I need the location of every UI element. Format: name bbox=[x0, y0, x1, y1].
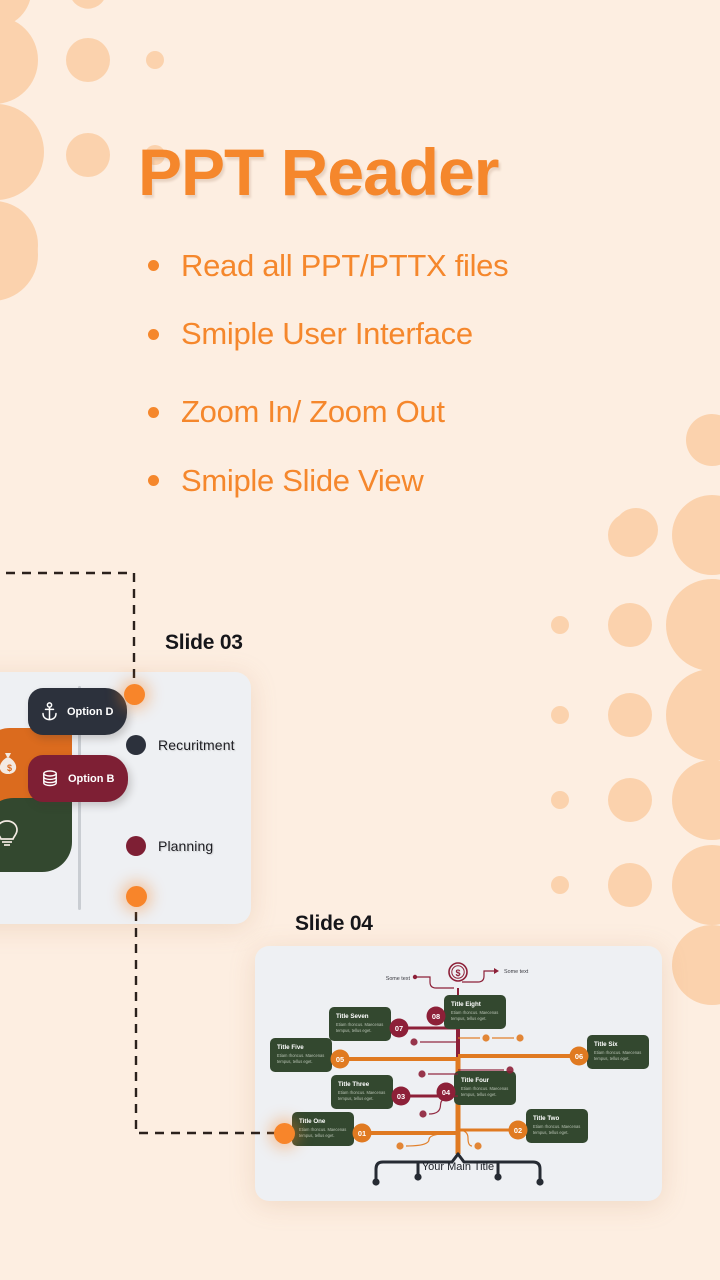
tree-branch-title: Title Three bbox=[338, 1081, 370, 1088]
svg-text:$: $ bbox=[7, 763, 12, 773]
chart-icon bbox=[410, 1038, 417, 1045]
tree-branch-body: tempus, tellus eget. bbox=[299, 1133, 335, 1138]
tree-branch-number: 05 bbox=[336, 1055, 344, 1064]
tree-branch-body: Etiam rhoncus. Maecenas bbox=[336, 1022, 383, 1027]
list-item: Smiple User Interface bbox=[148, 295, 668, 373]
tree-branch-number: 02 bbox=[514, 1126, 522, 1135]
tree-branch-number: 04 bbox=[442, 1088, 451, 1097]
tree-branch-body: Etiam rhoncus. Maecenas bbox=[533, 1124, 580, 1129]
legend-label: Recuritment bbox=[158, 737, 235, 753]
tree-branch-body: Etiam rhoncus. Maecenas bbox=[594, 1050, 641, 1055]
list-item: Zoom In/ Zoom Out bbox=[148, 373, 668, 451]
dollar-coin-icon: $ bbox=[455, 968, 460, 978]
tree-branch-body: tempus, tellus eget. bbox=[336, 1028, 372, 1033]
connector-node-slide03-top[interactable] bbox=[124, 684, 145, 705]
petal-shape-green bbox=[0, 798, 72, 872]
tree-branch-body: tempus, tellus eget. bbox=[338, 1096, 374, 1101]
tree-branch-number: 03 bbox=[397, 1092, 405, 1101]
tree-branch-title: Title Eight bbox=[451, 1001, 481, 1008]
list-icon bbox=[482, 1034, 489, 1041]
option-card-b[interactable]: Option B bbox=[28, 755, 128, 802]
search-icon bbox=[506, 1066, 513, 1073]
tree-branch-title: Title Four bbox=[461, 1077, 490, 1084]
feature-list: Read all PPT/PTTX files Smiple User Inte… bbox=[148, 236, 668, 510]
anchor-icon bbox=[474, 1142, 481, 1149]
money-bag-icon bbox=[396, 1142, 403, 1149]
tree-branch-body: Etiam rhoncus. Maecenas bbox=[277, 1053, 324, 1058]
tree-branch-body: tempus, tellus eget. bbox=[461, 1092, 497, 1097]
feature-label: Smiple Slide View bbox=[181, 463, 423, 499]
option-card-d[interactable]: Option D bbox=[28, 688, 127, 735]
bullet-icon bbox=[148, 407, 159, 418]
tree-note-left: Some text bbox=[386, 976, 411, 982]
tree-branch-number: 06 bbox=[575, 1052, 583, 1061]
lightbulb-icon bbox=[0, 798, 72, 872]
tree-main-title: Your Main Title bbox=[422, 1161, 494, 1173]
option-card-b-label: Option B bbox=[68, 773, 114, 785]
tree-branch-title: Title Five bbox=[277, 1044, 304, 1051]
tree-branch-body: tempus, tellus eget. bbox=[594, 1056, 630, 1061]
page-title: PPT Reader bbox=[138, 134, 498, 210]
flask-icon bbox=[516, 1034, 523, 1041]
slide-04-card[interactable]: Your Main Title$Some textSome textTitle … bbox=[255, 946, 662, 1201]
tree-branch-body: Etiam rhoncus. Maecenas bbox=[299, 1127, 346, 1132]
award-icon bbox=[419, 1110, 426, 1117]
tree-branch-number: 07 bbox=[395, 1024, 403, 1033]
tree-branch-number: 08 bbox=[432, 1012, 440, 1021]
slide-03-card[interactable]: $ Option D bbox=[0, 672, 251, 924]
tree-branch-title: Title Seven bbox=[336, 1013, 369, 1020]
slide-04-label: Slide 04 bbox=[295, 912, 373, 936]
bullet-icon bbox=[148, 475, 159, 486]
connector-node-slide03-bottom[interactable] bbox=[126, 886, 147, 907]
anchor-icon bbox=[41, 702, 58, 721]
legend-dot bbox=[126, 735, 146, 755]
list-item: Smiple Slide View bbox=[148, 451, 668, 510]
tree-branch-title: Title One bbox=[299, 1118, 326, 1125]
tree-note-right: Some text bbox=[504, 969, 529, 975]
pencil-icon bbox=[418, 1070, 425, 1077]
legend-label: Planning bbox=[158, 838, 213, 854]
tree-branch-title: Title Two bbox=[533, 1115, 559, 1122]
tree-branch-body: tempus, tellus eget. bbox=[451, 1016, 487, 1021]
connector-node-slide04[interactable] bbox=[274, 1123, 295, 1144]
feature-label: Zoom In/ Zoom Out bbox=[181, 394, 445, 430]
tree-branch-title: Title Six bbox=[594, 1041, 618, 1048]
tree-branch-body: Etiam rhoncus. Maecenas bbox=[451, 1010, 498, 1015]
tree-branch-number: 01 bbox=[358, 1129, 366, 1138]
legend-dot bbox=[126, 836, 146, 856]
tree-branch-body: tempus, tellus eget. bbox=[533, 1130, 569, 1135]
legend-item-planning[interactable]: Planning bbox=[126, 836, 213, 856]
option-card-d-label: Option D bbox=[67, 706, 113, 718]
slide-03-label: Slide 03 bbox=[165, 631, 243, 655]
database-icon bbox=[41, 769, 59, 788]
bullet-icon bbox=[148, 260, 159, 271]
bullet-icon bbox=[148, 329, 159, 340]
tree-diagram: Your Main Title$Some textSome textTitle … bbox=[255, 946, 662, 1201]
feature-label: Read all PPT/PTTX files bbox=[181, 248, 508, 284]
tree-branch-body: Etiam rhoncus. Maecenas bbox=[338, 1090, 385, 1095]
tree-branch-body: tempus, tellus eget. bbox=[277, 1059, 313, 1064]
tree-branch-body: Etiam rhoncus. Maecenas bbox=[461, 1086, 508, 1091]
feature-label: Smiple User Interface bbox=[181, 316, 473, 352]
legend-item-recruitment[interactable]: Recuritment bbox=[126, 735, 235, 755]
list-item: Read all PPT/PTTX files bbox=[148, 236, 668, 295]
